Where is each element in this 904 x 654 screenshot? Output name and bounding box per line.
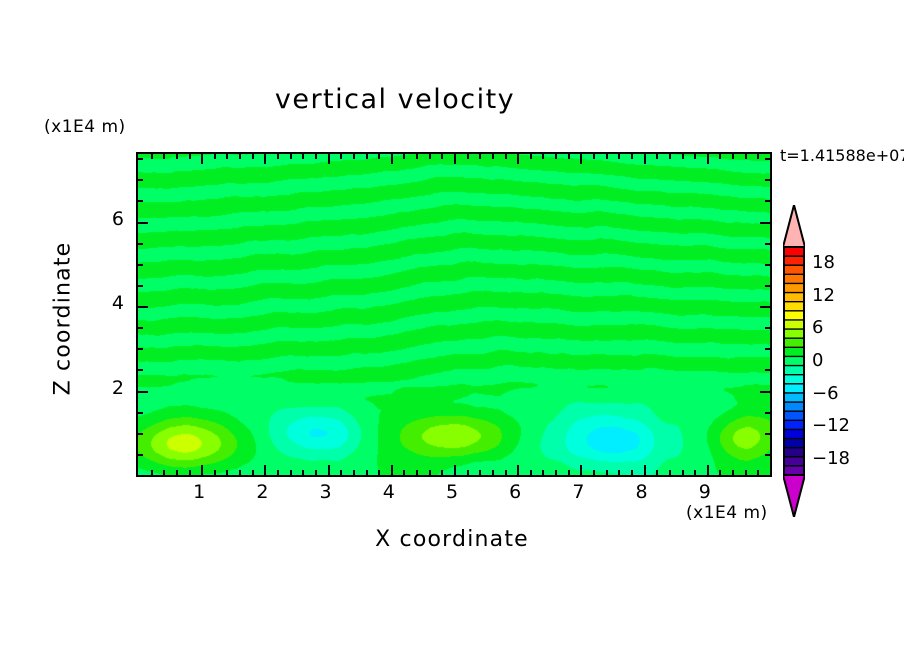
z-tick-left-minor [138,369,143,371]
z-tick-label: 2 [96,377,124,399]
z-tick-right-major [760,222,770,224]
x-tick-top-minor [757,154,759,159]
y-axis-title: Z coordinate [51,199,76,439]
x-tick-label: 8 [622,481,662,503]
colorbar-band [783,429,805,439]
z-tick-label: 4 [96,292,124,314]
x-tick-top-minor [163,154,165,159]
x-tick-bottom-minor [353,470,355,475]
x-tick-bottom-minor [732,470,734,475]
z-tick-right-minor [765,179,770,181]
x-tick-bottom-minor [378,470,380,475]
colorbar-band [783,293,805,303]
z-tick-left-minor [138,243,143,245]
x-tick-top-minor [353,154,355,159]
colorbar-band [783,274,805,284]
z-tick-left-major [138,222,148,224]
x-tick-top-minor [366,154,368,159]
x-tick-bottom-major [644,465,646,475]
x-tick-top-minor [403,154,405,159]
x-axis-units: (x1E4 m) [686,503,768,523]
z-tick-left-minor [138,327,143,329]
x-tick-bottom-minor [163,470,165,475]
x-tick-top-minor [745,154,747,159]
x-tick-label: 4 [369,481,409,503]
x-tick-top-major [707,154,709,164]
colorbar-band [783,439,805,449]
colorbar-band [783,320,805,330]
x-tick-bottom-major [264,465,266,475]
x-tick-bottom-major [328,465,330,475]
x-tick-bottom-minor [606,470,608,475]
x-tick-top-minor [682,154,684,159]
x-tick-bottom-minor [239,470,241,475]
x-tick-bottom-minor [745,470,747,475]
x-tick-bottom-minor [214,470,216,475]
x-tick-top-minor [302,154,304,159]
x-tick-bottom-major [391,465,393,475]
x-tick-top-minor [492,154,494,159]
z-tick-right-minor [765,158,770,160]
x-tick-bottom-minor [226,470,228,475]
contour-field [138,154,770,475]
x-tick-bottom-minor [593,470,595,475]
z-tick-left-minor [138,179,143,181]
x-tick-bottom-minor [694,470,696,475]
colorbar-band [783,311,805,321]
x-tick-top-minor [479,154,481,159]
colorbar-gradient [783,205,805,517]
colorbar [783,205,805,517]
colorbar-band [783,402,805,412]
x-tick-top-minor [239,154,241,159]
x-tick-bottom-minor [555,470,557,475]
colorbar-band [783,375,805,385]
time-annotation: t=1.41588e+07 [780,146,904,165]
x-tick-top-minor [176,154,178,159]
x-tick-bottom-minor [366,470,368,475]
z-tick-right-minor [765,200,770,202]
x-tick-top-major [454,154,456,164]
x-tick-bottom-minor [542,470,544,475]
colorbar-band [783,420,805,430]
x-tick-top-minor [441,154,443,159]
z-tick-right-major [760,306,770,308]
x-tick-top-minor [555,154,557,159]
z-tick-label: 6 [96,208,124,230]
x-tick-top-minor [530,154,532,159]
z-tick-left-minor [138,433,143,435]
x-tick-top-minor [189,154,191,159]
x-tick-top-major [517,154,519,164]
x-tick-bottom-minor [682,470,684,475]
z-tick-right-minor [765,243,770,245]
colorbar-band [783,457,805,467]
x-tick-bottom-minor [467,470,469,475]
x-tick-bottom-minor [340,470,342,475]
colorbar-tick-label: −12 [812,415,850,436]
x-tick-bottom-minor [505,470,507,475]
x-tick-top-major [391,154,393,164]
x-tick-top-minor [378,154,380,159]
x-tick-top-minor [214,154,216,159]
x-tick-bottom-major [580,465,582,475]
x-tick-top-major [580,154,582,164]
x-tick-bottom-minor [277,470,279,475]
x-tick-top-minor [606,154,608,159]
colorbar-band [783,347,805,357]
x-tick-bottom-major [707,465,709,475]
colorbar-band [783,283,805,293]
x-tick-bottom-minor [315,470,317,475]
colorbar-band [783,393,805,403]
x-tick-bottom-minor [189,470,191,475]
colorbar-band [783,448,805,458]
x-tick-bottom-major [201,465,203,475]
page-title: vertical velocity [0,84,790,115]
colorbar-band [783,302,805,312]
colorbar-band [783,247,805,257]
z-tick-left-minor [138,412,143,414]
colorbar-band [783,329,805,339]
x-tick-top-major [201,154,203,164]
x-tick-top-minor [467,154,469,159]
colorbar-band [783,338,805,348]
x-tick-top-minor [732,154,734,159]
x-tick-bottom-major [454,465,456,475]
x-tick-bottom-minor [530,470,532,475]
x-tick-top-minor [252,154,254,159]
z-tick-right-minor [765,454,770,456]
x-tick-bottom-minor [252,470,254,475]
colorbar-band [783,356,805,366]
colorbar-tick-label: 18 [812,252,835,273]
x-tick-top-major [644,154,646,164]
x-tick-label: 9 [685,481,725,503]
contour-plot-area [136,152,772,477]
x-tick-label: 5 [432,481,472,503]
x-tick-top-minor [656,154,658,159]
x-tick-top-minor [631,154,633,159]
colorbar-over-arrow [783,205,805,247]
z-tick-right-minor [765,348,770,350]
x-axis-title: X coordinate [136,527,768,552]
x-tick-bottom-minor [757,470,759,475]
x-tick-top-minor [568,154,570,159]
z-tick-left-minor [138,285,143,287]
colorbar-band [783,411,805,421]
colorbar-band [783,265,805,275]
z-tick-right-minor [765,433,770,435]
x-tick-bottom-minor [403,470,405,475]
z-tick-left-major [138,306,148,308]
z-tick-right-major [760,391,770,393]
colorbar-tick-label: 6 [812,317,823,338]
x-tick-top-minor [315,154,317,159]
x-tick-bottom-minor [416,470,418,475]
x-tick-label: 2 [242,481,282,503]
z-tick-right-minor [765,264,770,266]
x-tick-top-minor [416,154,418,159]
x-tick-top-minor [226,154,228,159]
x-tick-top-minor [694,154,696,159]
x-tick-top-minor [429,154,431,159]
colorbar-tick-label: −6 [812,383,839,404]
x-tick-top-minor [277,154,279,159]
x-tick-top-minor [340,154,342,159]
colorbar-tick-label: −18 [812,448,850,469]
z-tick-left-minor [138,454,143,456]
z-tick-left-major [138,391,148,393]
x-tick-top-minor [618,154,620,159]
z-tick-right-minor [765,412,770,414]
x-tick-bottom-minor [176,470,178,475]
colorbar-tick-label: 0 [812,350,823,371]
x-tick-bottom-minor [492,470,494,475]
x-tick-top-major [328,154,330,164]
x-tick-bottom-minor [429,470,431,475]
colorbar-band [783,384,805,394]
x-tick-bottom-minor [151,470,153,475]
z-tick-right-minor [765,369,770,371]
x-tick-label: 6 [495,481,535,503]
x-tick-bottom-minor [656,470,658,475]
x-tick-bottom-minor [618,470,620,475]
x-tick-bottom-minor [631,470,633,475]
x-tick-bottom-minor [719,470,721,475]
colorbar-band [783,256,805,266]
z-tick-left-minor [138,264,143,266]
z-tick-left-minor [138,158,143,160]
x-tick-top-major [264,154,266,164]
x-tick-bottom-minor [441,470,443,475]
x-tick-bottom-minor [290,470,292,475]
x-tick-bottom-major [517,465,519,475]
x-tick-bottom-minor [302,470,304,475]
x-tick-label: 1 [179,481,219,503]
y-axis-units: (x1E4 m) [44,117,126,137]
z-tick-right-minor [765,285,770,287]
colorbar-band [783,366,805,376]
z-tick-left-minor [138,200,143,202]
x-tick-bottom-minor [479,470,481,475]
colorbar-under-arrow [783,475,805,517]
x-tick-top-minor [542,154,544,159]
x-tick-label: 7 [558,481,598,503]
x-tick-top-minor [151,154,153,159]
x-tick-top-minor [719,154,721,159]
x-tick-top-minor [505,154,507,159]
z-tick-right-minor [765,327,770,329]
x-tick-top-minor [669,154,671,159]
x-tick-label: 3 [306,481,346,503]
x-tick-bottom-minor [669,470,671,475]
colorbar-tick-label: 12 [812,285,835,306]
x-tick-top-minor [290,154,292,159]
figure-canvas: vertical velocity (x1E4 m) t=1.41588e+07… [0,0,904,654]
x-tick-top-minor [593,154,595,159]
z-tick-left-minor [138,348,143,350]
x-tick-bottom-minor [568,470,570,475]
